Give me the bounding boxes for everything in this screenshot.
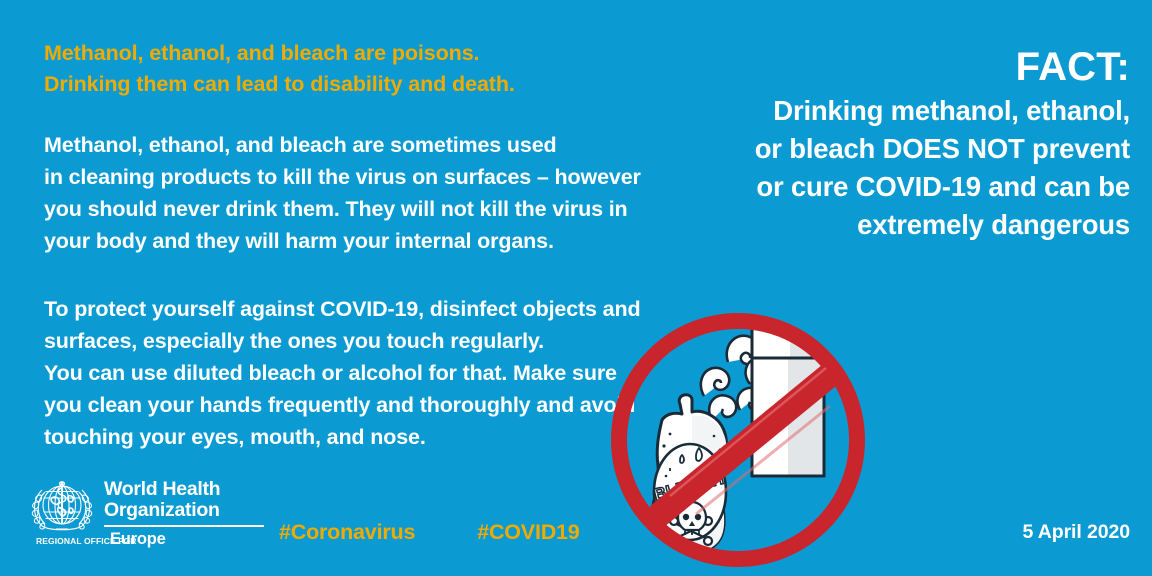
who-logo-text: World Health Organization REGIONAL OFFIC… [104, 478, 264, 549]
body-paragraph-2: To protect yourself against COVID-19, di… [44, 293, 654, 453]
fact-line-2: or bleach DOES NOT prevent [700, 130, 1130, 168]
who-logo-divider [104, 525, 264, 527]
paragraph2-line-4: you clean your hands frequently and thor… [44, 389, 654, 421]
hashtag-covid19[interactable]: #COVID19 [477, 520, 579, 545]
fact-line-3: or cure COVID-19 and can be [700, 168, 1130, 206]
fact-heading: FACT: [700, 44, 1130, 90]
lede-line-1: Methanol, ethanol, and bleach are poison… [44, 38, 654, 69]
lede-line-2: Drinking them can lead to disability and… [44, 69, 654, 100]
lede-paragraph: Methanol, ethanol, and bleach are poison… [44, 38, 654, 100]
poster-canvas: Methanol, ethanol, and bleach are poison… [0, 0, 1152, 576]
no-drinking-bleach-icon: BLEACH [600, 300, 880, 576]
publication-date: 5 April 2020 [1022, 521, 1130, 544]
who-logo-title-line-2: Organization [104, 500, 264, 521]
left-text-column: Methanol, ethanol, and bleach are poison… [44, 38, 654, 489]
fact-panel: FACT: Drinking methanol, ethanol, or ble… [700, 44, 1130, 244]
regional-office-prefix: REGIONAL OFFICE FOR [36, 536, 104, 546]
hashtag-group: #Coronavirus #COVID19 [279, 520, 580, 545]
paragraph2-line-1: To protect yourself against COVID-19, di… [44, 293, 654, 325]
who-logo: World Health Organization REGIONAL OFFIC… [28, 478, 268, 558]
who-logo-regional-row: REGIONAL OFFICE FOR Europe [104, 530, 264, 549]
body-paragraph-1: Methanol, ethanol, and bleach are someti… [44, 129, 654, 257]
fact-line-1: Drinking methanol, ethanol, [700, 92, 1130, 130]
fact-line-4: extremely dangerous [700, 206, 1130, 244]
paragraph1-line-1: Methanol, ethanol, and bleach are someti… [44, 129, 654, 161]
paragraph2-line-5: touching your eyes, mouth, and nose. [44, 421, 654, 453]
paragraph1-line-3: you should never drink them. They will n… [44, 193, 654, 225]
fact-statement: Drinking methanol, ethanol, or bleach DO… [700, 92, 1130, 244]
regional-office-region: Europe [110, 530, 166, 549]
who-logo-title-line-1: World Health [104, 479, 264, 500]
paragraph2-line-2: surfaces, especially the ones you touch … [44, 325, 654, 357]
paragraph2-line-3: You can use diluted bleach or alcohol fo… [44, 357, 654, 389]
who-logo-title: World Health Organization [104, 479, 264, 521]
hashtag-coronavirus[interactable]: #Coronavirus [279, 520, 415, 545]
paragraph1-line-4: your body and they will harm your intern… [44, 225, 654, 257]
paragraph1-line-2: in cleaning products to kill the virus o… [44, 161, 654, 193]
who-un-emblem-icon [28, 478, 96, 534]
